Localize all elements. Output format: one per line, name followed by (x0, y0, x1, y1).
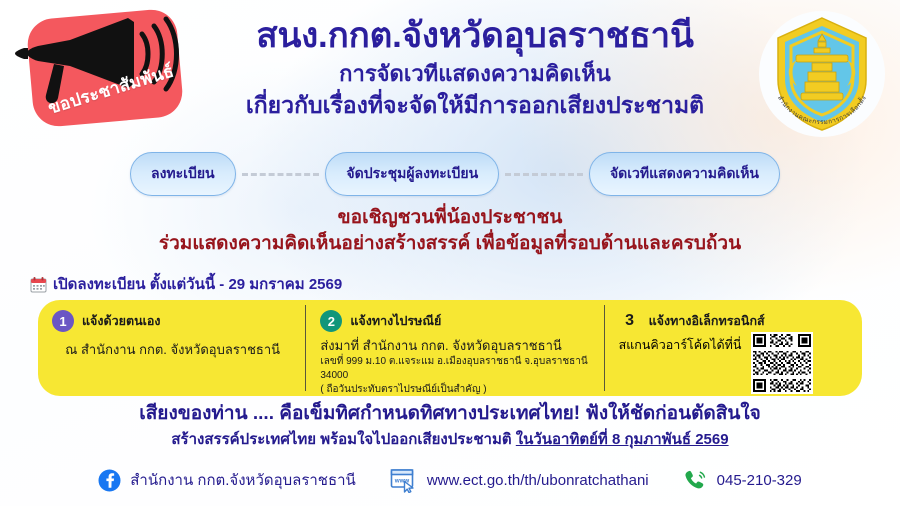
step-connector-2 (505, 173, 583, 176)
channel-3-detail: สแกนคิวอาร์โค้ดได้ที่นี่ (619, 332, 742, 355)
footer-website-label: www.ect.go.th/th/ubonratchathani (427, 472, 649, 489)
channel-item-3: 3 แจ้งทางอิเล็กทรอนิกส์ สแกนคิวอาร์โค้ดไ… (605, 300, 862, 396)
channel-1-title: แจ้งด้วยตนเอง (82, 311, 161, 331)
footer-phone[interactable]: 045-210-329 (683, 468, 802, 492)
page-title: สนง.กกต.จังหวัดอุบลราชธานี (195, 16, 755, 55)
channel-2-body: ส่งมาที่ สำนักงาน กกต. จังหวัดอุบลราชธาน… (320, 337, 591, 397)
channel-2-address: เลขที่ 999 ม.10 ต.แจระแม อ.เมืองอุบลราชธ… (320, 355, 591, 383)
registration-date-text: เปิดลงทะเบียน ตั้งแต่วันนี้ - 29 มกราคม … (53, 272, 342, 296)
channel-item-2: 2 แจ้งทางไปรษณีย์ ส่งมาที่ สำนักงาน กกต.… (306, 300, 603, 396)
slogan-line-2: สร้างสรรค์ประเทศไทย พร้อมใจไปออกเสียงประ… (50, 430, 850, 450)
step-connector-1 (242, 173, 320, 176)
ect-emblem-icon: สำนักงานคณะกรรมการการเลือกตั้ง (756, 8, 888, 140)
channel-2-number: 2 (320, 310, 342, 332)
footer-phone-label: 045-210-329 (717, 472, 802, 489)
invitation-block: ขอเชิญชวนพี่น้องประชาชน ร่วมแสดงความคิดเ… (60, 206, 840, 257)
page-subtitle-2: เกี่ยวกับเรื่องที่จะจัดให้มีการออกเสียงป… (195, 92, 755, 120)
channel-1-header: 1 แจ้งด้วยตนเอง (52, 310, 293, 332)
header: สนง.กกต.จังหวัดอุบลราชธานี การจัดเวทีแสด… (195, 16, 755, 119)
slogan-line-2-prefix: สร้างสรรค์ประเทศไทย พร้อมใจไปออกเสียงประ… (171, 431, 511, 448)
calendar-icon (30, 276, 47, 293)
channel-2-note: ( ถือวันประทับตราไปรษณีย์เป็นสำคัญ ) (320, 383, 591, 397)
channel-3-header: 3 แจ้งทางอิเล็กทรอนิกส์ (619, 310, 850, 332)
invitation-line-1: ขอเชิญชวนพี่น้องประชาชน (60, 206, 840, 230)
footer-facebook[interactable]: สำนักงาน กกต.จังหวัดอุบลราชธานี (98, 468, 356, 492)
channel-3-title: แจ้งทางอิเล็กทรอนิกส์ (649, 311, 765, 331)
slogan-block: เสียงของท่าน .... คือเข็มทิศกำหนดทิศทางป… (50, 402, 850, 450)
slogan-line-2-date: ในวันอาทิตย์ที่ 8 กุมภาพันธ์ 2569 (516, 431, 729, 448)
channel-2-title: แจ้งทางไปรษณีย์ (350, 311, 441, 331)
infographic-poster: ขอประชาสัมพันธ์ สนง.กกต.จังหวัดอุบลราชธา… (0, 0, 900, 506)
channel-3-body: สแกนคิวอาร์โค้ดได้ที่นี่ (619, 332, 850, 394)
channel-2-header: 2 แจ้งทางไปรษณีย์ (320, 310, 591, 332)
footer-facebook-label: สำนักงาน กกต.จังหวัดอุบลราชธานี (130, 468, 356, 492)
channel-1-detail: ณ สำนักงาน กกต. จังหวัดอุบลราชธานี (52, 337, 293, 360)
invitation-line-2: ร่วมแสดงความคิดเห็นอย่างสร้างสรรค์ เพื่อ… (60, 232, 840, 256)
step-pill-2[interactable]: จัดประชุมผู้ลงทะเบียน (325, 152, 499, 196)
footer-website[interactable]: www www.ect.go.th/th/ubonratchathani (390, 468, 649, 493)
process-steps: ลงทะเบียน จัดประชุมผู้ลงทะเบียน จัดเวทีแ… (130, 150, 780, 198)
qr-code-icon[interactable] (751, 332, 813, 394)
registration-channels-panel: 1 แจ้งด้วยตนเอง ณ สำนักงาน กกต. จังหวัดอ… (38, 300, 862, 396)
channel-3-number: 3 (619, 310, 641, 332)
browser-window-icon[interactable]: www (390, 468, 418, 493)
step-pill-1[interactable]: ลงทะเบียน (130, 152, 236, 196)
step-pill-3[interactable]: จัดเวทีแสดงความคิดเห็น (589, 152, 780, 196)
page-subtitle-1: การจัดเวทีแสดงความคิดเห็น (195, 61, 755, 87)
registration-dateline: เปิดลงทะเบียน ตั้งแต่วันนี้ - 29 มกราคม … (30, 272, 342, 296)
channel-2-detail: ส่งมาที่ สำนักงาน กกต. จังหวัดอุบลราชธาน… (320, 337, 591, 355)
announcement-badge: ขอประชาสัมพันธ์ (6, 4, 196, 130)
slogan-line-1: เสียงของท่าน .... คือเข็มทิศกำหนดทิศทางป… (50, 402, 850, 427)
footer-contact-bar: สำนักงาน กกต.จังหวัดอุบลราชธานี www www.… (0, 458, 900, 502)
channel-item-1: 1 แจ้งด้วยตนเอง ณ สำนักงาน กกต. จังหวัดอ… (38, 300, 305, 396)
phone-icon[interactable] (683, 468, 708, 492)
channel-1-number: 1 (52, 310, 74, 332)
facebook-icon[interactable] (98, 469, 121, 492)
